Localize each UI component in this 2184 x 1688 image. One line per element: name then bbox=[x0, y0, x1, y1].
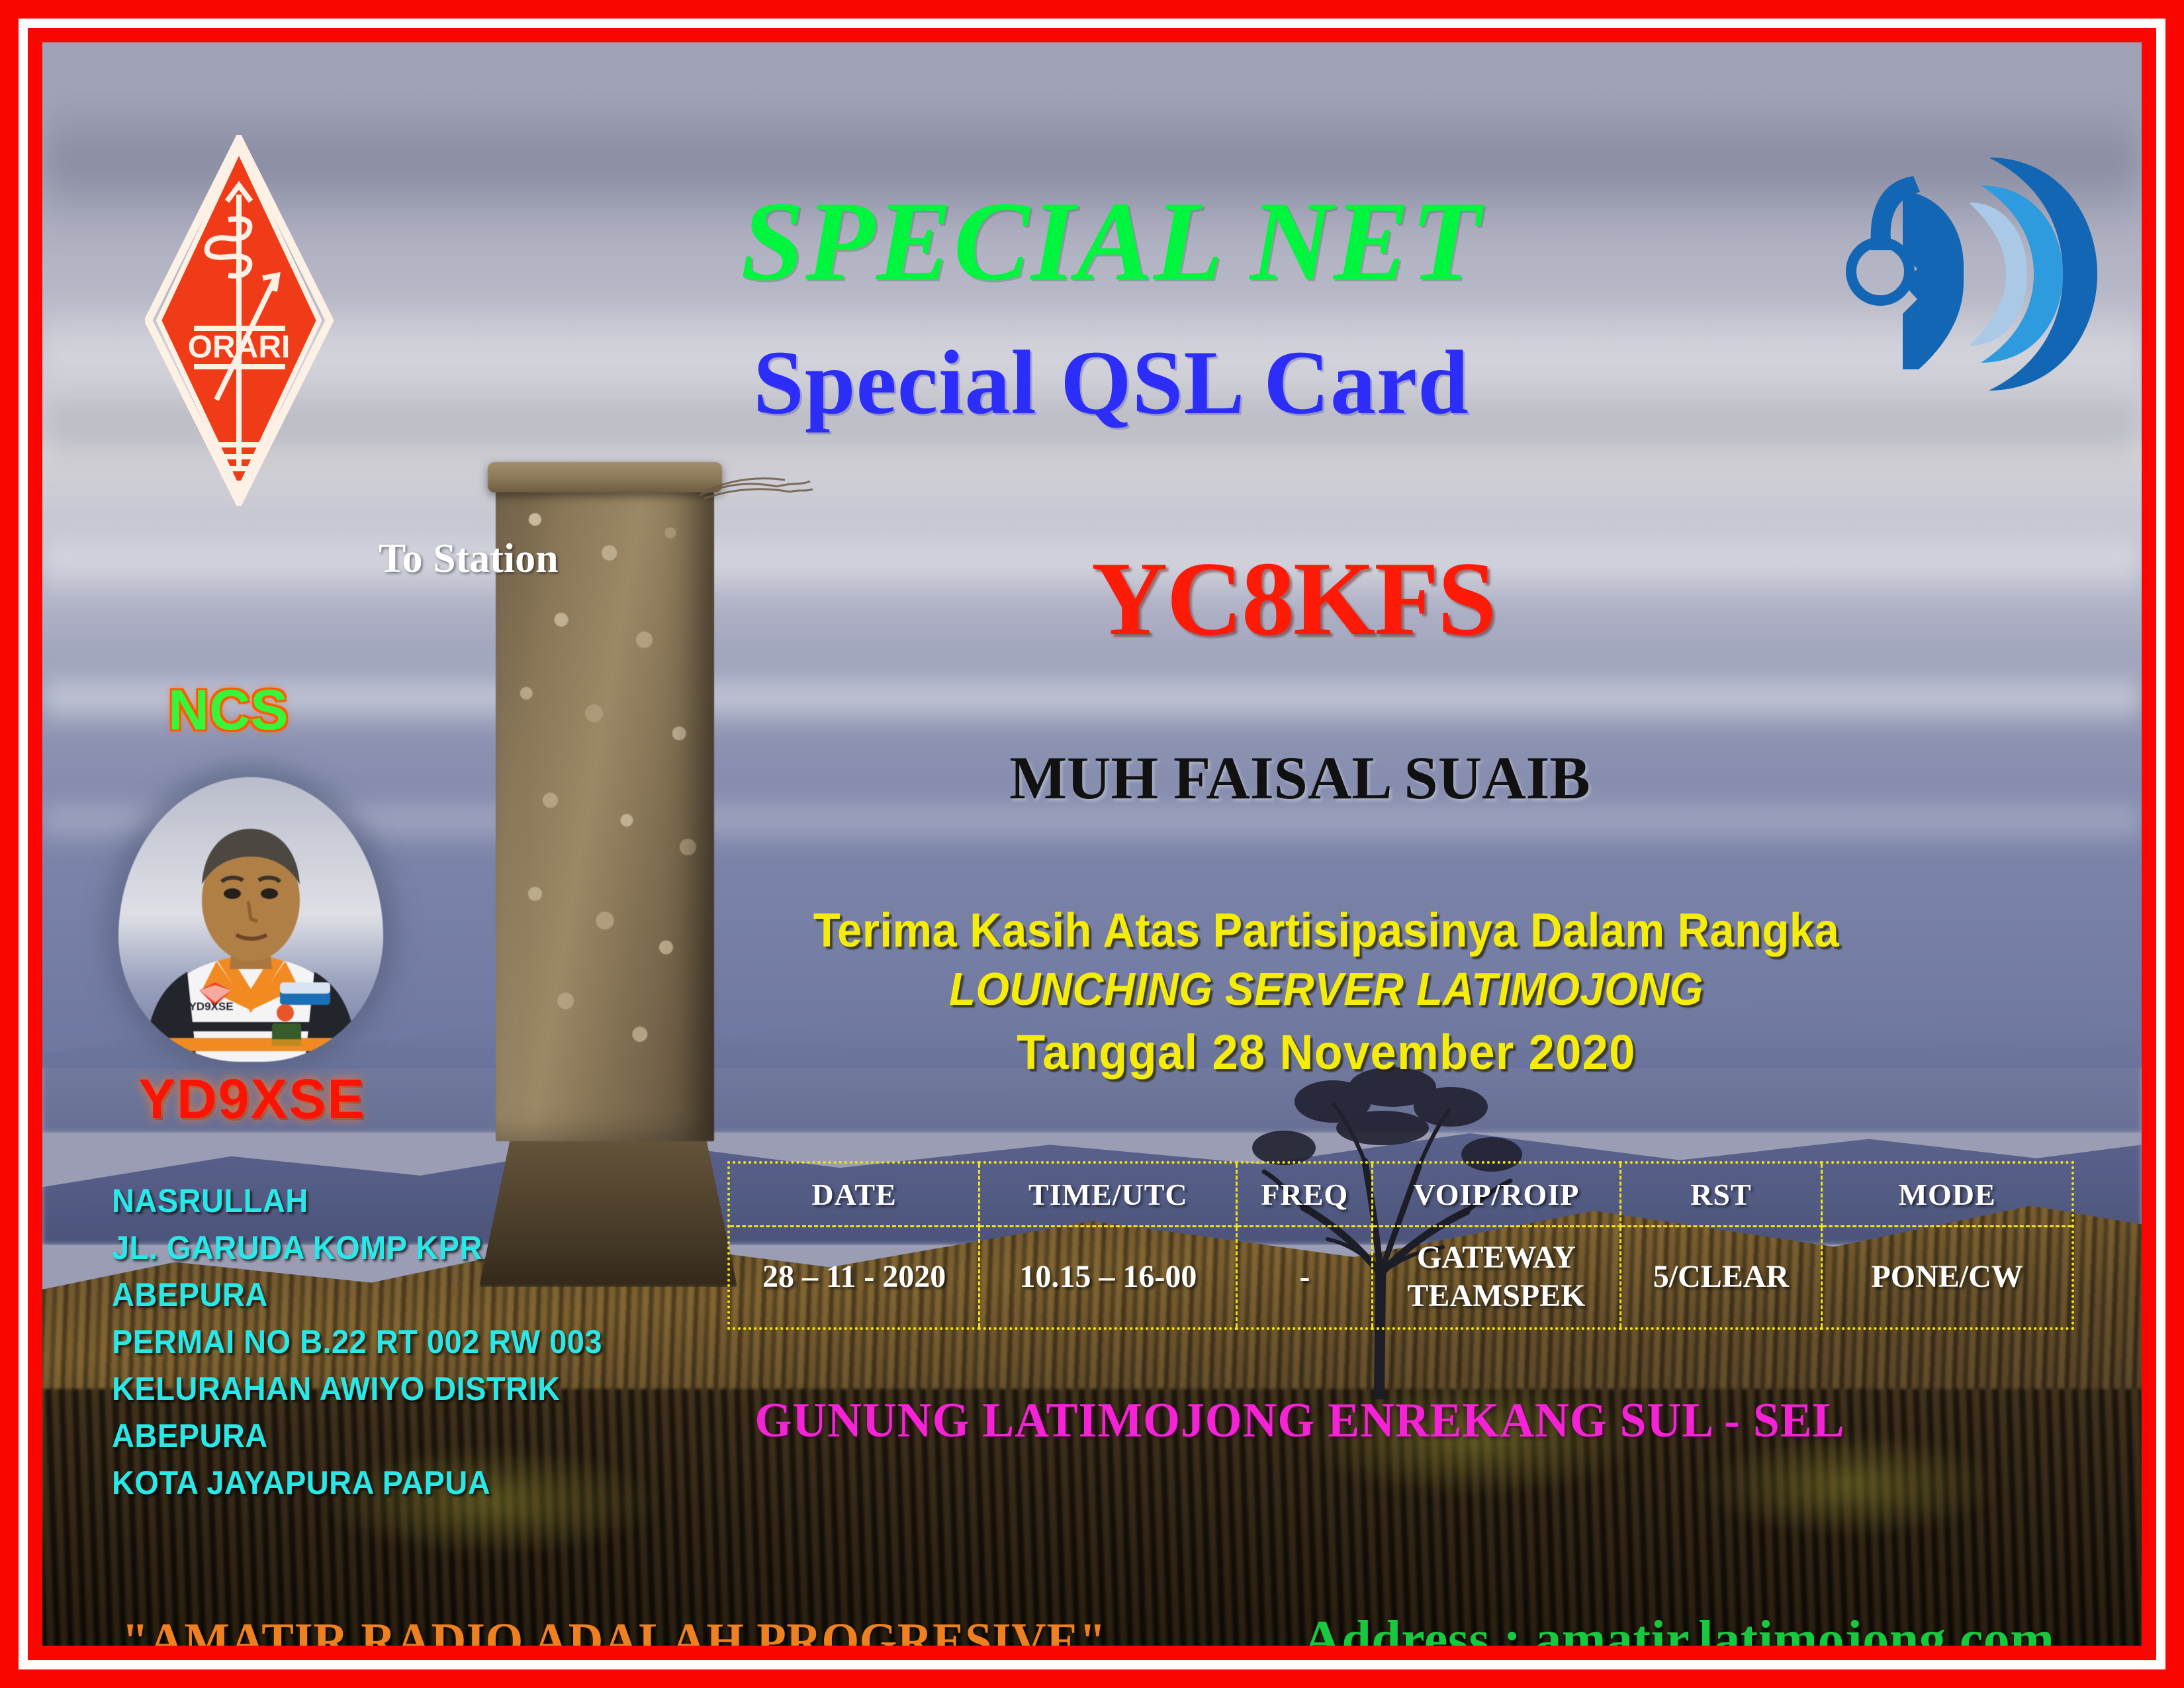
cell-rst: 5/CLEAR bbox=[1620, 1226, 1822, 1329]
address-line: JL. GARUDA KOMP KPR bbox=[112, 1225, 602, 1272]
footer-web-address: Address : amatir.latimojong.com bbox=[1303, 1610, 2054, 1646]
svg-text:YD9XSE: YD9XSE bbox=[189, 1000, 233, 1013]
cell-voip: GATEWAY TEAMSPEK bbox=[1373, 1226, 1621, 1329]
table-row: 28 – 11 - 2020 10.15 – 16-00 - GATEWAY T… bbox=[729, 1226, 2073, 1329]
ncs-badge-label: NCS bbox=[168, 678, 289, 743]
thanks-line-3-date: Tanggal 28 November 2020 bbox=[798, 1019, 1854, 1086]
address-line: ABEPURA bbox=[112, 1413, 602, 1460]
ncs-callsign: YD9XSE bbox=[138, 1067, 366, 1131]
address-line: ABEPURA bbox=[112, 1272, 602, 1319]
qsl-card-inner-frame: ORARI SPECIAL NET Special QSL Card To St… bbox=[28, 28, 2156, 1660]
thanks-line-2-event: LOUNCHING SERVER LATIMOJONG bbox=[809, 959, 1843, 1019]
address-line: KELURAHAN AWIYO DISTRIK bbox=[112, 1366, 602, 1413]
thanks-message-block: Terima Kasih Atas Partisipasinya Dalam R… bbox=[770, 903, 1882, 1086]
page-subtitle-special-qsl-card: Special QSL Card bbox=[499, 337, 1723, 428]
address-line: KOTA JAYAPURA PAPUA bbox=[112, 1460, 602, 1507]
location-caption: GUNUNG LATIMOJONG ENREKANG SUL - SEL bbox=[690, 1393, 1910, 1449]
to-station-label: To Station bbox=[379, 536, 559, 583]
qsl-card-outer-frame: ORARI SPECIAL NET Special QSL Card To St… bbox=[0, 0, 2184, 1688]
station-callsign: YC8KFS bbox=[956, 545, 1631, 651]
address-line: PERMAI NO B.22 RT 002 RW 003 bbox=[112, 1319, 602, 1366]
cell-date: 28 – 11 - 2020 bbox=[729, 1226, 979, 1329]
column-header-rst: RST bbox=[1620, 1162, 1822, 1226]
column-header-time-utc: TIME/UTC bbox=[979, 1162, 1237, 1226]
table-header-row: DATE TIME/UTC FREQ VOIP/ROIP RST MODE bbox=[729, 1162, 2073, 1226]
cloud-band bbox=[42, 668, 2142, 732]
twig-icon bbox=[698, 469, 813, 509]
column-header-date: DATE bbox=[729, 1162, 979, 1226]
headset-profile-radio-logo bbox=[1839, 142, 2104, 406]
thanks-line-1: Terima Kasih Atas Partisipasinya Dalam R… bbox=[809, 903, 1843, 959]
page-title-special-net: SPECIAL NET bbox=[499, 185, 1723, 299]
orari-diamond-logo: ORARI bbox=[145, 135, 334, 506]
cell-voip-line-2: TEAMSPEK bbox=[1407, 1278, 1585, 1313]
address-line: NASRULLAH bbox=[112, 1178, 602, 1225]
cell-time: 10.15 – 16-00 bbox=[979, 1226, 1237, 1329]
footer-motto: "AMATIR RADIO ADALAH PROGRESIVE" bbox=[122, 1613, 1106, 1646]
cell-mode: PONE/CW bbox=[1822, 1226, 2073, 1329]
qsl-card-white-gap: ORARI SPECIAL NET Special QSL Card To St… bbox=[19, 19, 2165, 1669]
operator-name: MUH FAISAL SUAIB bbox=[883, 747, 1717, 808]
pillar-cap bbox=[488, 462, 722, 492]
column-header-freq: FREQ bbox=[1237, 1162, 1373, 1226]
cell-freq: - bbox=[1237, 1226, 1373, 1329]
column-header-mode: MODE bbox=[1822, 1162, 2073, 1226]
ncs-address-block: NASRULLAH JL. GARUDA KOMP KPR ABEPURA PE… bbox=[112, 1178, 602, 1507]
qsl-card-background-photo: ORARI SPECIAL NET Special QSL Card To St… bbox=[42, 42, 2142, 1646]
column-header-voip-roip: VOIP/ROIP bbox=[1373, 1162, 1621, 1226]
cell-voip-line-1: GATEWAY bbox=[1417, 1240, 1576, 1275]
orari-logo-text: ORARI bbox=[188, 330, 291, 365]
qso-log-table: DATE TIME/UTC FREQ VOIP/ROIP RST MODE 28… bbox=[727, 1161, 2074, 1330]
